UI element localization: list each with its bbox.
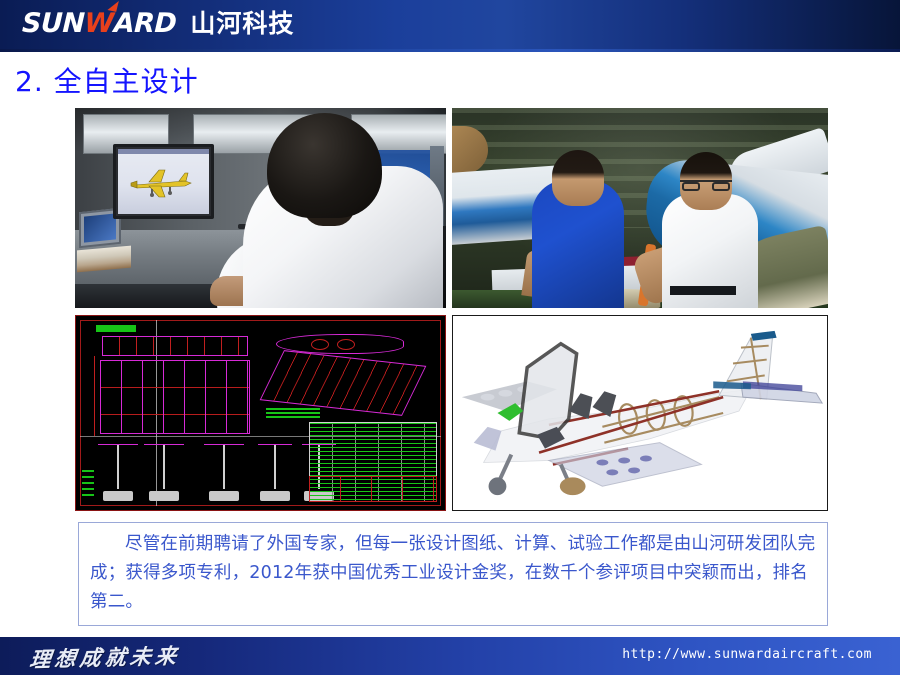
logo-wordmark: SUN W ARD (22, 10, 177, 37)
logo-letter-w: W (84, 10, 114, 37)
aircraft-3d-render (453, 316, 827, 510)
caption-box: 尽管在前期聘请了外国专家，但每一张设计图纸、计算、试验工作都是由山河研发团队完成… (78, 522, 828, 626)
section-detail (144, 444, 184, 501)
monitor-screen (118, 149, 209, 214)
sunward-logo: SUN W ARD 山河科技 (22, 10, 294, 37)
margin-annotations (82, 470, 94, 500)
section-detail (258, 444, 292, 501)
wing-top-view (102, 336, 248, 356)
section-detail (98, 444, 138, 501)
page-footer: 理想成就未来 http://www.sunwardaircraft.com (0, 637, 900, 675)
cad-sheet (75, 315, 446, 511)
logo-chinese-name: 山河科技 (190, 11, 294, 36)
aircraft-3d-model[interactable] (452, 315, 828, 511)
cad-workstation-photo[interactable] (75, 108, 446, 308)
cad-aircraft-model-icon (129, 166, 197, 200)
drawing-label-tag (96, 325, 136, 332)
caption-text: 尽管在前期聘请了外国专家，但每一张设计图纸、计算、试验工作都是由山河研发团队完成… (90, 530, 816, 617)
logo-text-sun: SUN (22, 10, 85, 37)
dimension-line (94, 356, 101, 436)
section-detail (204, 444, 244, 501)
drawing-notes (266, 408, 320, 420)
title-block (309, 476, 437, 502)
model-viewport (453, 316, 827, 510)
page-title: 2. 全自主设计 (15, 60, 199, 100)
engineer-belt (670, 286, 736, 295)
hangar-scene (452, 108, 828, 308)
hangar-inspection-photo[interactable] (452, 108, 828, 308)
blueprint-drawing[interactable] (75, 315, 446, 511)
logo-text-ard: ARD (113, 10, 177, 37)
eyeglasses-icon (680, 180, 732, 189)
header-underline (0, 49, 900, 52)
office-scene (75, 108, 446, 308)
cad-app-titlebar (118, 149, 209, 154)
app-header: SUN W ARD 山河科技 (0, 0, 900, 49)
footer-slogan: 理想成就未来 (28, 640, 182, 674)
technician-head (552, 150, 604, 206)
image-gallery (75, 108, 828, 511)
engineer-head (267, 113, 382, 218)
footer-website-url[interactable]: http://www.sunwardaircraft.com (622, 647, 872, 662)
wing-plan-view (100, 360, 250, 434)
computer-monitor (113, 144, 214, 219)
paper-stack (77, 246, 131, 273)
